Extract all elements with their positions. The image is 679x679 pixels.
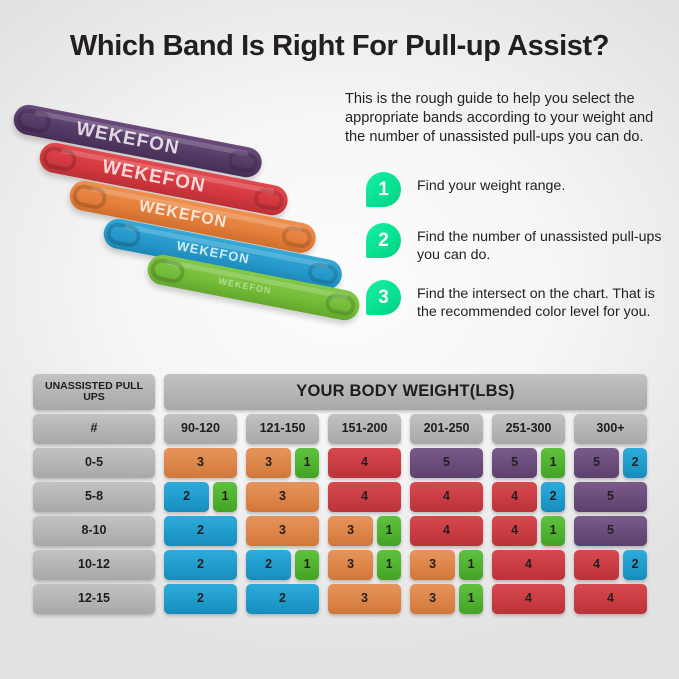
table-cell-r2-c4: 41 [492, 516, 565, 546]
band-chip-green: 1 [377, 516, 401, 546]
band-loop-left [105, 221, 143, 249]
table-row: 10-122213131442 [33, 550, 647, 580]
column-header-0: 90-120 [164, 414, 237, 444]
band-chip-red: 4 [492, 584, 565, 614]
band-chip-purple: 5 [574, 482, 647, 512]
band-loop-left [71, 183, 109, 211]
page-title: Which Band Is Right For Pull-up Assist? [0, 30, 679, 63]
band-chip-orange: 3 [246, 448, 291, 478]
band-chip-red: 4 [410, 482, 483, 512]
row-label-10-12: 10-12 [33, 550, 155, 580]
band-chip-blue: 2 [623, 448, 647, 478]
table-cell-r0-c5: 52 [574, 448, 647, 478]
table-cell-r3-c5: 42 [574, 550, 647, 580]
table-cell-r4-c5: 4 [574, 584, 647, 614]
weight-header-title: YOUR BODY WEIGHT(LBS) [164, 374, 647, 410]
band-chip-red: 4 [328, 482, 401, 512]
column-header-1: 121-150 [246, 414, 319, 444]
band-chip-green: 1 [459, 584, 483, 614]
table-cell-r4-c3: 31 [410, 584, 483, 614]
table-cell-r2-c3: 4 [410, 516, 483, 546]
band-loop-left [15, 107, 53, 135]
table-cell-r1-c5: 5 [574, 482, 647, 512]
band-chip-orange: 3 [328, 550, 373, 580]
band-chip-blue: 2 [623, 550, 647, 580]
table-header-row-columns: # 90-120 121-150 151-200 201-250 251-300… [33, 414, 647, 444]
column-header-4: 251-300 [492, 414, 565, 444]
table-cell-r1-c4: 42 [492, 482, 565, 512]
table-cell-r0-c0: 3 [164, 448, 237, 478]
row-label-5-8: 5-8 [33, 482, 155, 512]
table-cell-r4-c1: 2 [246, 584, 319, 614]
table-row: 12-152233144 [33, 584, 647, 614]
band-chip-blue: 2 [164, 550, 237, 580]
band-loop-right [306, 261, 339, 286]
row-header-symbol: # [33, 414, 155, 444]
band-chip-red: 4 [492, 482, 537, 512]
table-cell-r3-c3: 31 [410, 550, 483, 580]
band-chip-orange: 3 [328, 584, 401, 614]
table-cell-r3-c1: 21 [246, 550, 319, 580]
table-cell-r1-c1: 3 [246, 482, 319, 512]
band-chip-green: 1 [213, 482, 237, 512]
table-row: 5-821344425 [33, 482, 647, 512]
band-chip-blue: 2 [164, 516, 237, 546]
band-recommendation-table: UNASSISTED PULL UPS YOUR BODY WEIGHT(LBS… [33, 374, 647, 618]
row-label-8-10: 8-10 [33, 516, 155, 546]
table-cell-r2-c1: 3 [246, 516, 319, 546]
band-chip-blue: 2 [246, 584, 319, 614]
band-chip-orange: 3 [328, 516, 373, 546]
row-header-title: UNASSISTED PULL UPS [33, 374, 155, 410]
table-cell-r3-c4: 4 [492, 550, 565, 580]
table-cell-r0-c1: 31 [246, 448, 319, 478]
table-cell-r2-c5: 5 [574, 516, 647, 546]
band-chip-red: 4 [574, 584, 647, 614]
band-chip-green: 1 [541, 516, 565, 546]
band-chip-orange: 3 [246, 516, 319, 546]
band-loop-right [280, 224, 313, 249]
table-cell-r3-c0: 2 [164, 550, 237, 580]
table-row: 8-1023314415 [33, 516, 647, 546]
band-chip-purple: 5 [492, 448, 537, 478]
band-chip-green: 1 [295, 550, 319, 580]
table-cell-r1-c0: 21 [164, 482, 237, 512]
table-cell-r4-c0: 2 [164, 584, 237, 614]
table-row: 0-5331455152 [33, 448, 647, 478]
table-cell-r0-c4: 51 [492, 448, 565, 478]
band-chip-red: 4 [410, 516, 483, 546]
row-label-0-5: 0-5 [33, 448, 155, 478]
column-header-5: 300+ [574, 414, 647, 444]
band-chip-blue: 2 [246, 550, 291, 580]
band-loop-right [324, 292, 357, 317]
table-cell-r3-c2: 31 [328, 550, 401, 580]
band-loop-right [226, 149, 259, 174]
step-item: 1 Find your weight range. [366, 172, 671, 207]
band-chip-purple: 5 [574, 448, 619, 478]
band-chip-green: 1 [377, 550, 401, 580]
resistance-bands-illustration: WEKEFON WEKEFON WEKEFON WEKEFON WEKEFON [8, 92, 353, 354]
band-chip-green: 1 [459, 550, 483, 580]
table-cell-r0-c3: 5 [410, 448, 483, 478]
step-badge-1: 1 [366, 172, 401, 207]
step-badge-2: 2 [366, 223, 401, 258]
band-chip-blue: 2 [541, 482, 565, 512]
band-chip-purple: 5 [574, 516, 647, 546]
table-cell-r1-c2: 4 [328, 482, 401, 512]
step-text-1: Find your weight range. [417, 172, 565, 195]
band-chip-green: 1 [541, 448, 565, 478]
steps-list: 1 Find your weight range. 2 Find the num… [366, 172, 671, 321]
band-chip-orange: 3 [164, 448, 237, 478]
band-chip-orange: 3 [410, 550, 455, 580]
band-chip-purple: 5 [410, 448, 483, 478]
band-loop-left [149, 257, 187, 285]
table-cell-r2-c2: 31 [328, 516, 401, 546]
intro-paragraph: This is the rough guide to help you sele… [345, 90, 667, 147]
band-chip-blue: 2 [164, 482, 209, 512]
band-chip-blue: 2 [164, 584, 237, 614]
band-chip-red: 4 [328, 448, 401, 478]
table-cell-r0-c2: 4 [328, 448, 401, 478]
row-label-12-15: 12-15 [33, 584, 155, 614]
step-item: 3 Find the intersect on the chart. That … [366, 280, 671, 321]
band-chip-orange: 3 [410, 584, 455, 614]
band-chip-green: 1 [295, 448, 319, 478]
band-chip-red: 4 [492, 516, 537, 546]
table-cell-r2-c0: 2 [164, 516, 237, 546]
column-header-3: 201-250 [410, 414, 483, 444]
table-cell-r1-c3: 4 [410, 482, 483, 512]
table-cell-r4-c4: 4 [492, 584, 565, 614]
table-cell-r4-c2: 3 [328, 584, 401, 614]
band-chip-orange: 3 [246, 482, 319, 512]
band-loop-right [252, 187, 285, 212]
band-chip-red: 4 [574, 550, 619, 580]
table-body: 0-53314551525-8213444258-102331441510-12… [33, 448, 647, 614]
step-text-2: Find the number of unassisted pull-ups y… [417, 223, 671, 264]
step-badge-3: 3 [366, 280, 401, 315]
column-header-2: 151-200 [328, 414, 401, 444]
band-loop-left [41, 145, 79, 173]
band-chip-red: 4 [492, 550, 565, 580]
step-item: 2 Find the number of unassisted pull-ups… [366, 223, 671, 264]
table-header-row-title: UNASSISTED PULL UPS YOUR BODY WEIGHT(LBS… [33, 374, 647, 410]
step-text-3: Find the intersect on the chart. That is… [417, 280, 671, 321]
